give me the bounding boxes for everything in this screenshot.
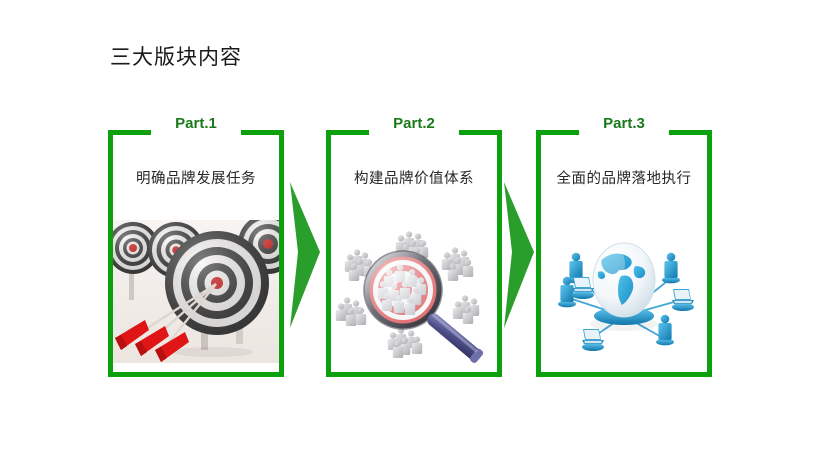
content-panel-part-3[interactable]: Part.3 全面的品牌落地执行 <box>536 130 712 377</box>
panel-heading: 明确品牌发展任务 <box>112 167 280 188</box>
content-panel-part-2[interactable]: Part.2 构建品牌价值体系 <box>326 130 502 377</box>
panel-part-label: Part.2 <box>326 115 502 132</box>
magnifying-glass-over-crowd-image <box>331 220 497 363</box>
panel-border-bottom <box>326 372 502 377</box>
panel-border-bottom <box>108 372 284 377</box>
content-panel-part-1[interactable]: Part.1 明确品牌发展任务 <box>108 130 284 377</box>
panel-part-label: Part.3 <box>536 115 712 132</box>
panel-part-label: Part.1 <box>108 115 284 132</box>
archery-targets-with-red-arrows-image <box>113 220 279 363</box>
panel-border-bottom <box>536 372 712 377</box>
page-title: 三大版块内容 <box>110 41 242 71</box>
flow-arrow-1-to-2 <box>288 180 322 330</box>
flow-arrow-2-to-3 <box>502 180 536 330</box>
panel-heading: 构建品牌价值体系 <box>330 167 498 188</box>
panel-heading: 全面的品牌落地执行 <box>540 167 708 188</box>
global-network-globe-image <box>541 220 707 363</box>
slide-canvas: 三大版块内容 Part.1 明确品牌发展任务 <box>0 0 821 456</box>
